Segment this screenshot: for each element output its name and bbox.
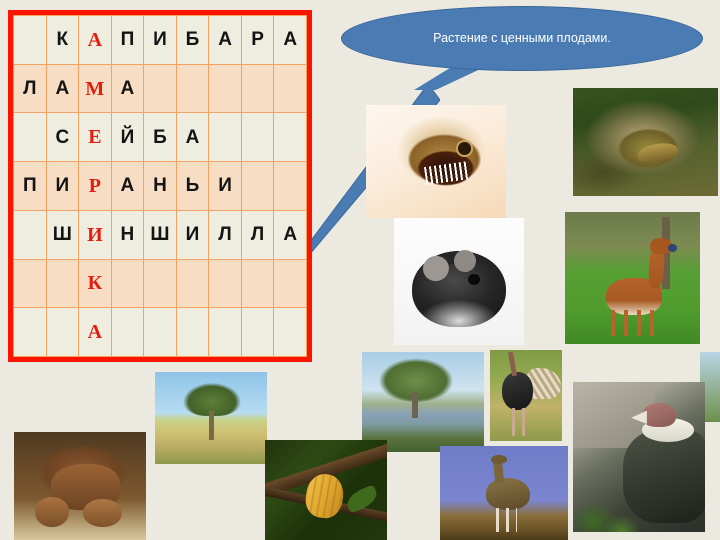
- crossword-cell[interactable]: [144, 64, 177, 113]
- crossword-cell[interactable]: Р: [241, 16, 274, 65]
- crossword-table: К А П И Б А Р А Л А М А: [13, 15, 307, 357]
- nandu-head-shape: [491, 455, 506, 463]
- crossword-cell[interactable]: Л: [241, 210, 274, 259]
- crossword-cell[interactable]: [111, 259, 144, 308]
- nandu-body-shape: [486, 478, 530, 510]
- crossword-cell[interactable]: [241, 308, 274, 357]
- crossword-cell[interactable]: [209, 308, 242, 357]
- crossword-grid[interactable]: К А П И Б А Р А Л А М А: [8, 10, 312, 362]
- speech-bubble-text: Растение с ценными плодами.: [415, 31, 630, 47]
- crossword-cell[interactable]: [274, 308, 307, 357]
- crossword-overflow-cell[interactable]: А: [274, 16, 307, 65]
- crossword-cell[interactable]: [144, 259, 177, 308]
- crossword-key-cell[interactable]: М: [79, 64, 112, 113]
- capybara-photo: [14, 432, 146, 540]
- crossword-cell[interactable]: [209, 64, 242, 113]
- crossword-cell[interactable]: [14, 259, 47, 308]
- lake-tree-photo: [362, 352, 484, 452]
- cocoa-pod-photo: [265, 440, 387, 540]
- piranha-photo: [366, 105, 506, 218]
- crossword-cell[interactable]: [46, 259, 79, 308]
- speech-bubble: Растение с ценными плодами.: [341, 6, 703, 71]
- crossword-cell[interactable]: И: [176, 210, 209, 259]
- crossword-row: А: [14, 308, 307, 357]
- crossword-cell[interactable]: [176, 259, 209, 308]
- crossword-cell[interactable]: [209, 259, 242, 308]
- crossword-body: К А П И Б А Р А Л А М А: [14, 16, 307, 357]
- crossword-cell[interactable]: И: [144, 16, 177, 65]
- crossword-cell[interactable]: [111, 308, 144, 357]
- ostrich-legs-shape: [512, 408, 525, 435]
- crossword-cell[interactable]: Ь: [176, 162, 209, 211]
- crossword-row: С Е Й Б А: [14, 113, 307, 162]
- ostrich-body-shape: [502, 372, 534, 410]
- crossword-cell[interactable]: А: [111, 162, 144, 211]
- crossword-cell[interactable]: П: [14, 162, 47, 211]
- crossword-cell[interactable]: [14, 308, 47, 357]
- crossword-key-cell[interactable]: А: [79, 16, 112, 65]
- crossword-cell[interactable]: [176, 64, 209, 113]
- armadillo-photo-art: [573, 88, 718, 196]
- crossword-cell[interactable]: Л: [209, 210, 242, 259]
- crossword-cell[interactable]: [14, 113, 47, 162]
- crossword-cell[interactable]: А: [209, 16, 242, 65]
- capybara-pup-right-shape: [83, 499, 123, 527]
- lake-tree-trunk-shape: [412, 392, 418, 418]
- crossword-cell[interactable]: С: [46, 113, 79, 162]
- crossword-cell[interactable]: [241, 259, 274, 308]
- crossword-key-cell[interactable]: К: [79, 259, 112, 308]
- crossword-cell[interactable]: [144, 308, 177, 357]
- crossword-row: Л А М А: [14, 64, 307, 113]
- crossword-cell[interactable]: [46, 308, 79, 357]
- nandu-legs-shape: [496, 508, 516, 532]
- crossword-row: К: [14, 259, 307, 308]
- piranha-photo-art: [366, 105, 506, 218]
- chinchilla-photo: [394, 218, 524, 345]
- nandu-photo: [440, 446, 568, 540]
- crossword-cell[interactable]: Ш: [46, 210, 79, 259]
- crossword-key-cell[interactable]: А: [79, 308, 112, 357]
- chinchilla-eye-shape: [468, 274, 480, 285]
- crossword-cell[interactable]: [274, 162, 307, 211]
- crossword-row: Ш И Н Ш И Л Л А: [14, 210, 307, 259]
- crossword-cell[interactable]: [14, 210, 47, 259]
- crossword-cell[interactable]: [209, 113, 242, 162]
- crossword-cell[interactable]: [241, 64, 274, 113]
- crossword-cell[interactable]: [241, 162, 274, 211]
- crossword-cell[interactable]: Н: [111, 210, 144, 259]
- crossword-cell[interactable]: Й: [111, 113, 144, 162]
- crossword-cell[interactable]: [274, 113, 307, 162]
- crossword-cell[interactable]: А: [46, 64, 79, 113]
- crossword-cell[interactable]: Б: [176, 16, 209, 65]
- armadillo-photo: [573, 88, 718, 196]
- crossword-cell[interactable]: К: [46, 16, 79, 65]
- crossword-key-cell[interactable]: И: [79, 210, 112, 259]
- slide-canvas: Растение с ценными плодами. К А П И Б А …: [0, 0, 720, 540]
- crossword-cell[interactable]: П: [111, 16, 144, 65]
- crossword-cell[interactable]: [14, 16, 47, 65]
- crossword-row: П И Р А Н Ь И: [14, 162, 307, 211]
- piranha-eye-shape: [458, 142, 471, 154]
- crossword-overflow-cell[interactable]: А: [274, 210, 307, 259]
- crossword-cell[interactable]: И: [209, 162, 242, 211]
- savanna-tree-trunk-shape: [209, 411, 215, 440]
- crossword-cell[interactable]: Ш: [144, 210, 177, 259]
- savanna-tree-photo: [155, 372, 267, 464]
- crossword-cell[interactable]: А: [111, 64, 144, 113]
- crossword-cell[interactable]: Н: [144, 162, 177, 211]
- ostrich-photo: [490, 350, 562, 441]
- crossword-cell[interactable]: [176, 308, 209, 357]
- condor-foliage-shape: [573, 490, 642, 532]
- crossword-cell[interactable]: И: [46, 162, 79, 211]
- vicuna-legs-shape: [611, 310, 660, 336]
- crossword-row: К А П И Б А Р А: [14, 16, 307, 65]
- crossword-cell[interactable]: [274, 259, 307, 308]
- crossword-cell[interactable]: Б: [144, 113, 177, 162]
- condor-photo: [573, 382, 705, 532]
- crossword-cell[interactable]: Л: [14, 64, 47, 113]
- vicuna-muzzle-shape: [668, 244, 677, 252]
- crossword-key-cell[interactable]: Р: [79, 162, 112, 211]
- crossword-cell[interactable]: А: [176, 113, 209, 162]
- vicuna-photo: [565, 212, 700, 344]
- crossword-cell[interactable]: [241, 113, 274, 162]
- crossword-cell[interactable]: [274, 64, 307, 113]
- crossword-key-cell[interactable]: Е: [79, 113, 112, 162]
- capybara-pup-left-shape: [35, 497, 69, 527]
